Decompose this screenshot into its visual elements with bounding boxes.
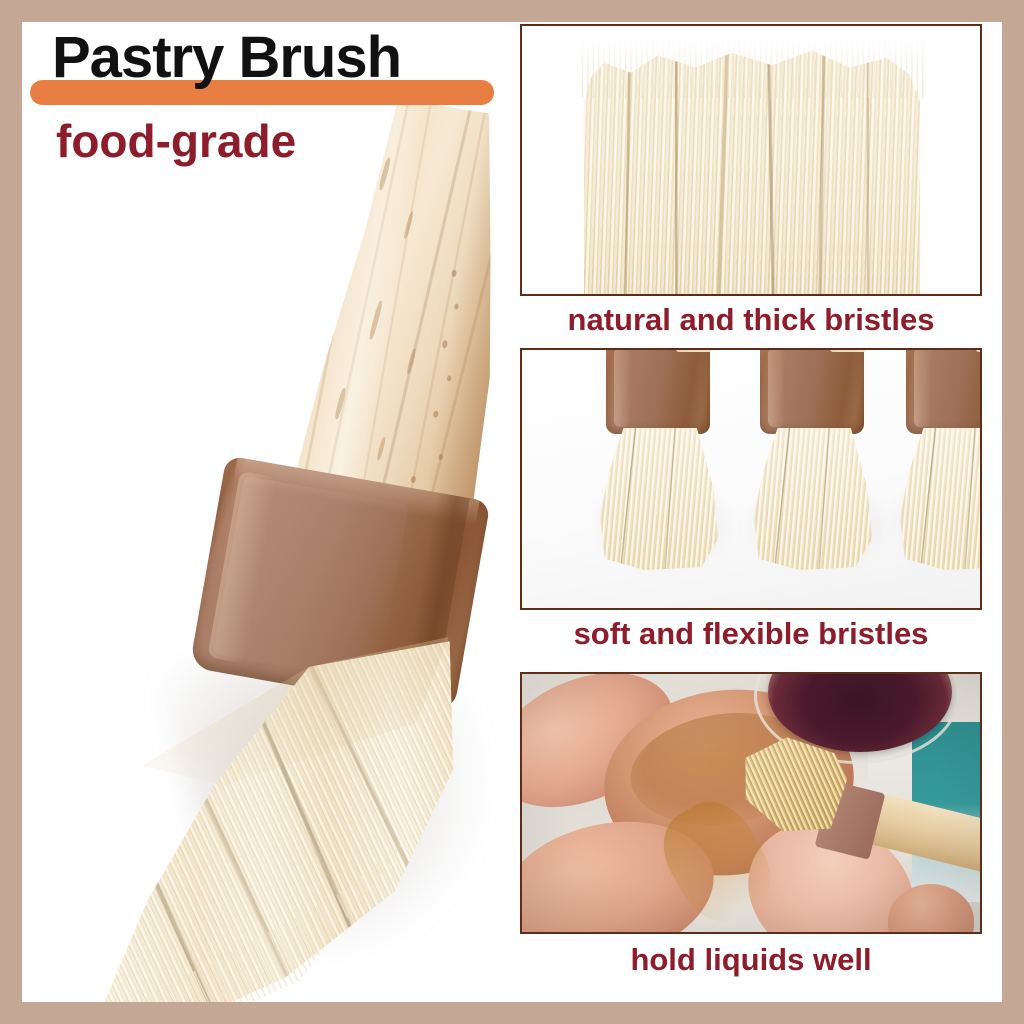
mini-ferrule-highlight <box>914 348 931 427</box>
title-block: Pastry Brush food-grade <box>22 22 520 202</box>
mini-brush-handle-stub <box>676 348 712 352</box>
mini-brush-ferrule <box>606 348 710 434</box>
feature-panel-natural-thick-bristles <box>520 24 982 296</box>
brush-bristles <box>39 635 520 1002</box>
hero-column: Pastry Brush food-grade <box>22 22 520 1002</box>
bristle-closeup-frayed-tips <box>580 38 924 98</box>
mini-ferrule-highlight <box>768 348 785 427</box>
mini-brush-2 <box>748 348 876 572</box>
feature-panel-soft-flexible-bristles <box>520 348 982 610</box>
product-infographic-poster: Pastry Brush food-grade natural and thic… <box>0 0 1024 1024</box>
mini-ferrule-highlight <box>614 348 631 427</box>
caption-soft-flexible-bristles: soft and flexible bristles <box>520 618 982 649</box>
mini-bristle-dark-hairs <box>900 428 982 570</box>
feature-panels-column: natural and thick bristles <box>520 22 1002 1002</box>
mini-brush-ferrule <box>760 348 864 434</box>
caption-natural-thick-bristles: natural and thick bristles <box>520 304 982 335</box>
mini-bristle-dark-hairs <box>600 428 718 570</box>
mini-brush-handle-stub <box>976 348 982 352</box>
feature-panel-hold-liquids-well <box>520 672 982 934</box>
mini-brush-3 <box>894 348 982 572</box>
basting-photo <box>522 674 980 932</box>
mini-brush-1 <box>594 348 722 572</box>
mini-bristle-dark-hairs <box>754 428 872 570</box>
page-subtitle: food-grade <box>56 118 296 164</box>
caption-hold-liquids-well: hold liquids well <box>520 944 982 975</box>
mini-brush-handle-stub <box>830 348 866 352</box>
mini-brush-ferrule <box>906 348 982 434</box>
poster-canvas: Pastry Brush food-grade natural and thic… <box>22 22 1002 1002</box>
photo-vignette <box>522 674 980 932</box>
page-title: Pastry Brush <box>52 29 401 87</box>
